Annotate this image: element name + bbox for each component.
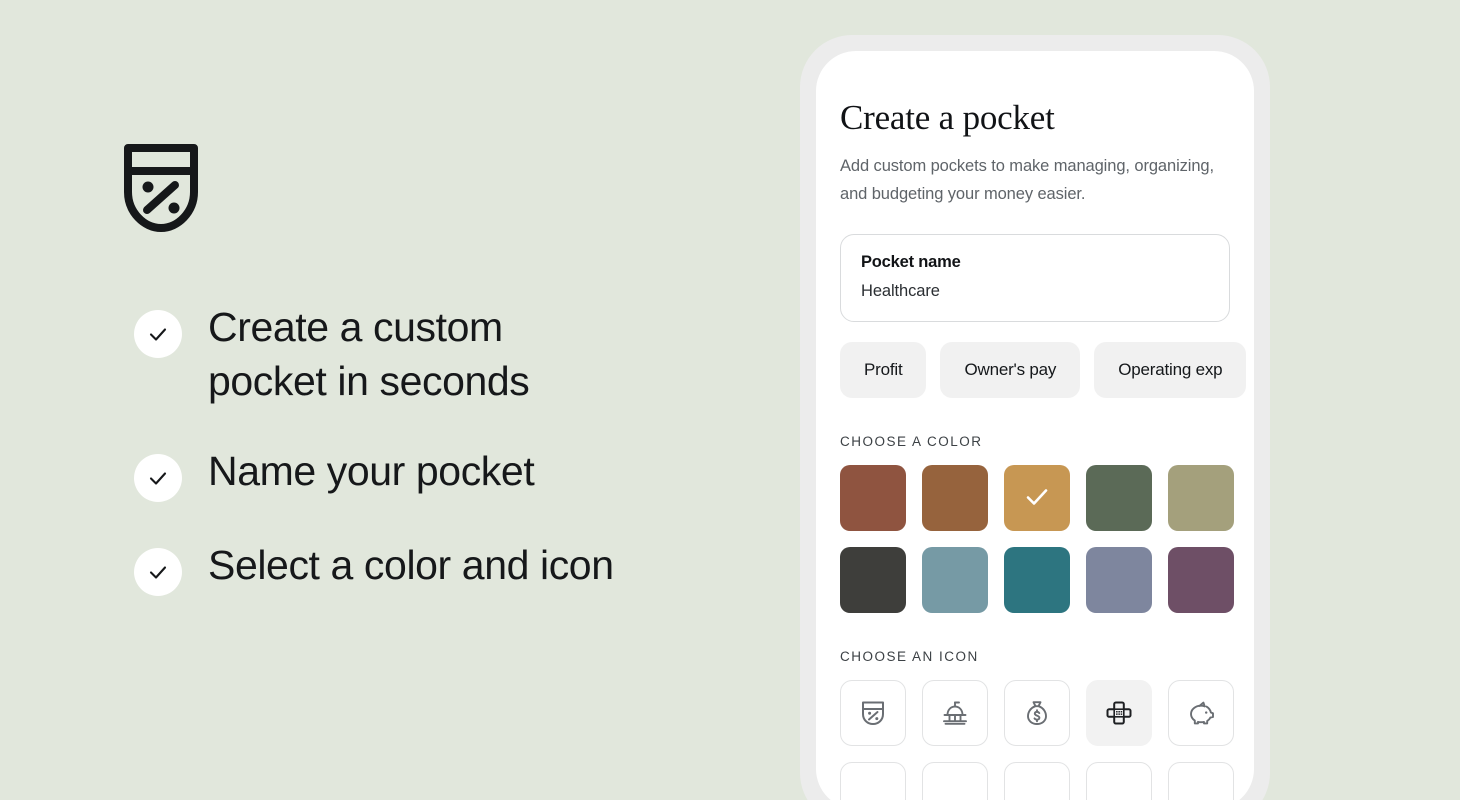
create-pocket-form: Create a pocket Add custom pockets to ma…	[816, 51, 1254, 800]
color-swatch-grid[interactable]	[840, 465, 1230, 613]
list-item: Name your pocket	[134, 444, 754, 502]
choose-a-color-label: Choose a color	[840, 434, 1230, 449]
icon-tile-partial-5[interactable]	[1168, 762, 1234, 800]
color-swatch-forest[interactable]	[1086, 465, 1152, 531]
icon-tile-bank[interactable]	[922, 680, 988, 746]
chip-owners-pay[interactable]: Owner's pay	[940, 342, 1080, 398]
check-icon	[134, 548, 182, 596]
color-swatch-plum[interactable]	[1168, 547, 1234, 613]
page-root: Create a custompocket in seconds Name yo…	[0, 0, 1460, 800]
chip-operating-expenses[interactable]: Operating exp	[1094, 342, 1246, 398]
icon-tile-partial-3[interactable]	[1004, 762, 1070, 800]
icon-tile-pocket-percent[interactable]	[840, 680, 906, 746]
piggy-bank-icon	[1186, 698, 1216, 728]
icon-tile-grid[interactable]	[840, 680, 1230, 746]
feature-list: Create a custompocket in seconds Name yo…	[134, 300, 754, 596]
color-swatch-dusty-blue[interactable]	[922, 547, 988, 613]
list-item: Select a color and icon	[134, 538, 754, 596]
feature-label: Select a color and icon	[208, 538, 614, 592]
pocket-percent-icon	[858, 698, 888, 728]
color-swatch-gold[interactable]	[1004, 465, 1070, 531]
suggestion-chips-row[interactable]: Profit Owner's pay Operating exp	[840, 342, 1230, 398]
phone-mockup: Create a pocket Add custom pockets to ma…	[800, 35, 1270, 800]
feature-label: Name your pocket	[208, 444, 534, 498]
check-icon	[1022, 482, 1052, 515]
color-swatch-teal[interactable]	[1004, 547, 1070, 613]
choose-an-icon-label: Choose an icon	[840, 649, 1230, 664]
money-bag-icon	[1022, 698, 1052, 728]
icon-tile-bandage[interactable]	[1086, 680, 1152, 746]
page-title: Create a pocket	[840, 99, 1230, 138]
icon-tile-grid-row-2[interactable]	[840, 762, 1230, 800]
phone-screen: Create a pocket Add custom pockets to ma…	[816, 51, 1254, 800]
chip-profit[interactable]: Profit	[840, 342, 926, 398]
check-icon	[134, 454, 182, 502]
pocket-name-value[interactable]: Healthcare	[861, 282, 1209, 301]
feature-label: Create a custompocket in seconds	[208, 300, 529, 408]
icon-tile-money-bag[interactable]	[1004, 680, 1070, 746]
icon-tile-partial-1[interactable]	[840, 762, 906, 800]
list-item: Create a custompocket in seconds	[134, 300, 754, 408]
left-panel: Create a custompocket in seconds Name yo…	[0, 0, 790, 800]
pocket-name-input[interactable]: Pocket name Healthcare	[840, 234, 1230, 322]
bank-icon	[940, 698, 970, 728]
icon-tile-piggy-bank[interactable]	[1168, 680, 1234, 746]
icon-tile-partial-4[interactable]	[1086, 762, 1152, 800]
pocket-name-label: Pocket name	[861, 253, 1209, 272]
color-swatch-brick[interactable]	[840, 465, 906, 531]
color-swatch-periwinkle[interactable]	[1086, 547, 1152, 613]
pocket-percent-icon	[120, 140, 202, 238]
color-swatch-khaki[interactable]	[1168, 465, 1234, 531]
bandage-icon	[1104, 698, 1134, 728]
page-subtitle: Add custom pockets to make managing, org…	[840, 152, 1225, 209]
check-icon	[134, 310, 182, 358]
icon-tile-partial-2[interactable]	[922, 762, 988, 800]
color-swatch-charcoal[interactable]	[840, 547, 906, 613]
color-swatch-caramel[interactable]	[922, 465, 988, 531]
